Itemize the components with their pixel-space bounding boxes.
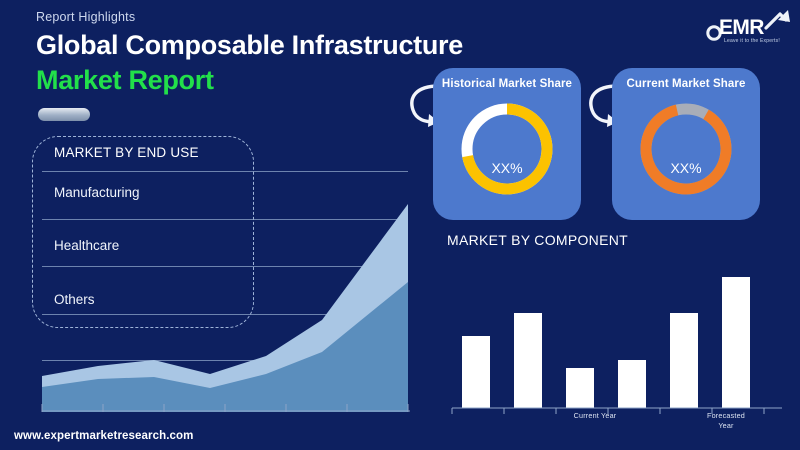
svg-text:Leave it to the Experts!: Leave it to the Experts!: [724, 38, 780, 44]
market-by-end-use-title: MARKET BY END USE: [54, 145, 199, 160]
bar: [462, 336, 490, 408]
current-donut-chart: [636, 99, 736, 199]
page-title-line2: Market Report: [36, 65, 214, 96]
bar: [618, 360, 646, 408]
end-use-item-healthcare[interactable]: Healthcare: [54, 238, 119, 253]
bar-chart: [438, 258, 790, 414]
emr-logo-mark: EMR Leave it to the Experts!: [700, 4, 792, 46]
bar-series: [462, 277, 750, 408]
bar-axis-label-current-year: Current Year: [545, 411, 645, 421]
card-title: Current Market Share: [612, 78, 760, 90]
bar: [566, 368, 594, 408]
end-use-item-others[interactable]: Others: [54, 292, 95, 307]
bar-axis-label-forecasted-year: Forecasted Year: [683, 411, 769, 430]
current-market-share-card[interactable]: Current Market Share XX%: [612, 68, 760, 220]
end-use-item-manufacturing[interactable]: Manufacturing: [54, 185, 140, 200]
bar: [722, 277, 750, 408]
emr-logo[interactable]: EMR Leave it to the Experts!: [700, 4, 792, 46]
historical-donut-value: XX%: [433, 160, 581, 176]
svg-text:EMR: EMR: [719, 16, 764, 39]
card-title: Historical Market Share: [433, 78, 581, 90]
slide-canvas: Report Highlights Global Composable Infr…: [0, 0, 800, 450]
bar: [670, 313, 698, 408]
eyebrow-text: Report Highlights: [36, 10, 135, 24]
market-by-component-title: MARKET BY COMPONENT: [447, 232, 628, 248]
historical-market-share-card[interactable]: Historical Market Share XX%: [433, 68, 581, 220]
bar-chart-svg: [438, 258, 790, 414]
bar: [514, 313, 542, 408]
historical-donut-chart: [457, 99, 557, 199]
title-underline-pill: [38, 108, 90, 121]
footer-url[interactable]: www.expertmarketresearch.com: [14, 430, 193, 442]
current-donut-value: XX%: [612, 160, 760, 176]
page-title-line1: Global Composable Infrastructure: [36, 30, 463, 61]
